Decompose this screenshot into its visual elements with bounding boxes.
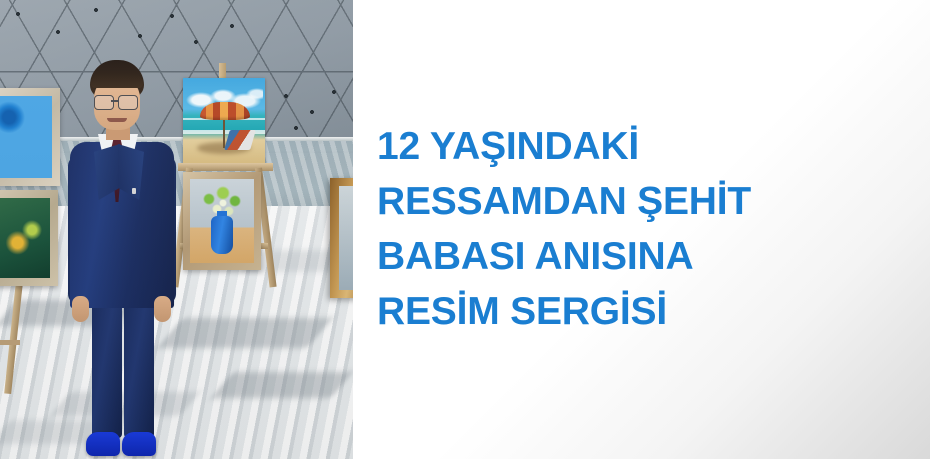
painted-blue-vase <box>211 216 233 254</box>
beach-umbrella-painting <box>183 78 265 164</box>
left-hand <box>72 296 89 322</box>
hair-fringe <box>91 72 143 88</box>
left-trouser-leg <box>92 304 122 438</box>
mouth <box>107 118 127 122</box>
painting-canvas <box>190 179 254 263</box>
left-sneaker <box>86 432 120 456</box>
headline-text: 12 YAŞINDAKİ RESSAMDAN ŞEHİT BABASI ANIS… <box>377 119 917 339</box>
floor-shadow <box>211 372 353 398</box>
glasses-lens <box>118 95 138 110</box>
painted-deck-chair <box>224 130 256 150</box>
glasses-bridge <box>111 100 119 102</box>
right-trouser-leg <box>124 304 154 438</box>
easel-crossbar <box>0 340 20 345</box>
painting-canvas <box>0 198 50 278</box>
green-landscape-painting <box>0 190 58 286</box>
boy-painter <box>64 60 180 459</box>
painted-umbrella <box>200 102 250 120</box>
painting-canvas <box>0 96 52 178</box>
right-sneaker <box>122 432 156 456</box>
right-hand <box>154 296 171 322</box>
lapel-pin <box>132 188 136 194</box>
headline-panel: 12 YAŞINDAKİ RESSAMDAN ŞEHİT BABASI ANIS… <box>353 0 930 459</box>
blue-flower-painting <box>0 88 60 186</box>
photo-scene <box>0 0 353 459</box>
glasses-lens <box>94 95 114 110</box>
news-image-card: 12 YAŞINDAKİ RESSAMDAN ŞEHİT BABASI ANIS… <box>0 0 930 459</box>
news-photo <box>0 0 353 459</box>
floor-shadow <box>157 318 332 348</box>
blue-vase-flowers-painting <box>183 172 261 270</box>
gold-framed-painting <box>330 178 353 298</box>
